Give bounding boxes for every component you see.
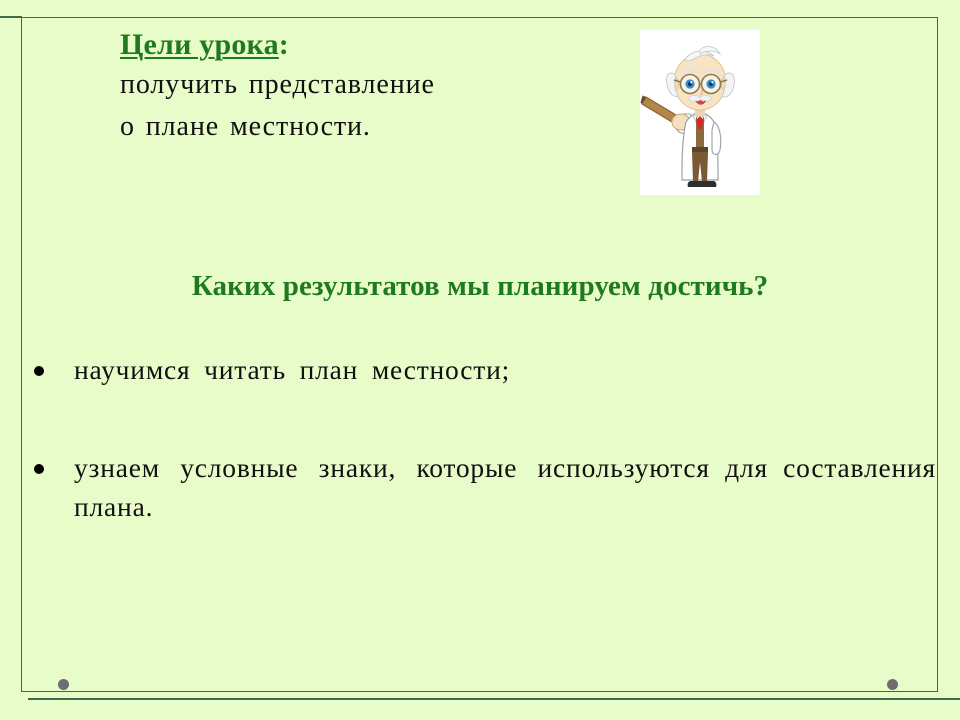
lesson-goals-block: Цели урока: получить представление о пла…	[120, 26, 620, 147]
bullet-2-text-line-1: узнаем условные знаки, которые использую…	[74, 452, 710, 483]
list-item: узнаем условные знаки, которые использую…	[22, 448, 938, 527]
lesson-goals-line-1: получить представление	[120, 64, 620, 105]
lesson-goals-line-2: о плане местности.	[120, 106, 620, 147]
lesson-goals-title-colon: :	[279, 28, 289, 61]
list-item: научимся читать план местности;	[22, 350, 938, 390]
professor-illustration	[640, 30, 760, 195]
frame-bottom-rule	[28, 698, 960, 700]
frame-dot-left	[58, 679, 69, 690]
results-question-heading: Каких результатов мы планируем достичь?	[0, 270, 960, 303]
frame-dot-right	[887, 679, 898, 690]
lesson-goals-title: Цели урока:	[120, 26, 620, 64]
slide-canvas: Цели урока: получить представление о пла…	[0, 0, 960, 720]
bullet-dot-icon	[34, 464, 44, 474]
bullet-dot-icon	[34, 366, 44, 376]
lesson-goals-title-underlined: Цели урока	[120, 28, 279, 61]
frame-top-extension-line	[0, 16, 22, 18]
bullet-1-text: научимся читать план местности;	[74, 354, 510, 385]
results-bullet-list: научимся читать план местности; узнаем у…	[22, 350, 938, 527]
